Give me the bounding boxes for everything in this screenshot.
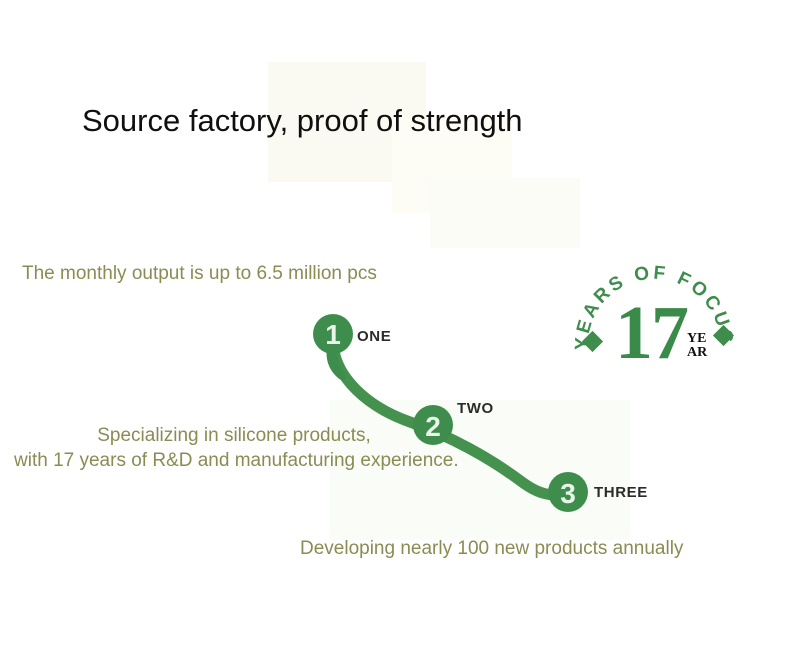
flow-curve-svg: 1 2 3 bbox=[300, 300, 610, 535]
badge-year-bottom: AR bbox=[687, 346, 713, 360]
background-patch bbox=[430, 178, 580, 248]
stat-new-products: Developing nearly 100 new products annua… bbox=[300, 538, 683, 560]
badge-years-number: 17 bbox=[608, 295, 694, 371]
milestone-flow-graphic: 1 2 3 bbox=[300, 300, 610, 535]
years-of-focus-badge: YEARS OF FOCUS 17 YE AR bbox=[566, 243, 746, 383]
stat-monthly-output: The monthly output is up to 6.5 million … bbox=[22, 263, 377, 285]
node-3-number: 3 bbox=[560, 478, 576, 509]
flow-node-2[interactable]: 2 bbox=[413, 405, 453, 445]
flow-node-label-one: ONE bbox=[357, 328, 391, 345]
badge-year-top: YE bbox=[687, 332, 713, 346]
node-2-number: 2 bbox=[425, 411, 441, 442]
node-1-number: 1 bbox=[325, 319, 341, 350]
flow-node-label-two: TWO bbox=[457, 400, 494, 417]
flow-node-3[interactable]: 3 bbox=[548, 472, 588, 512]
slide-canvas: Source factory, proof of strength The mo… bbox=[0, 0, 800, 658]
flow-node-label-three: THREE bbox=[594, 484, 648, 501]
page-title: Source factory, proof of strength bbox=[82, 103, 523, 139]
badge-year-word: YE AR bbox=[687, 332, 713, 360]
